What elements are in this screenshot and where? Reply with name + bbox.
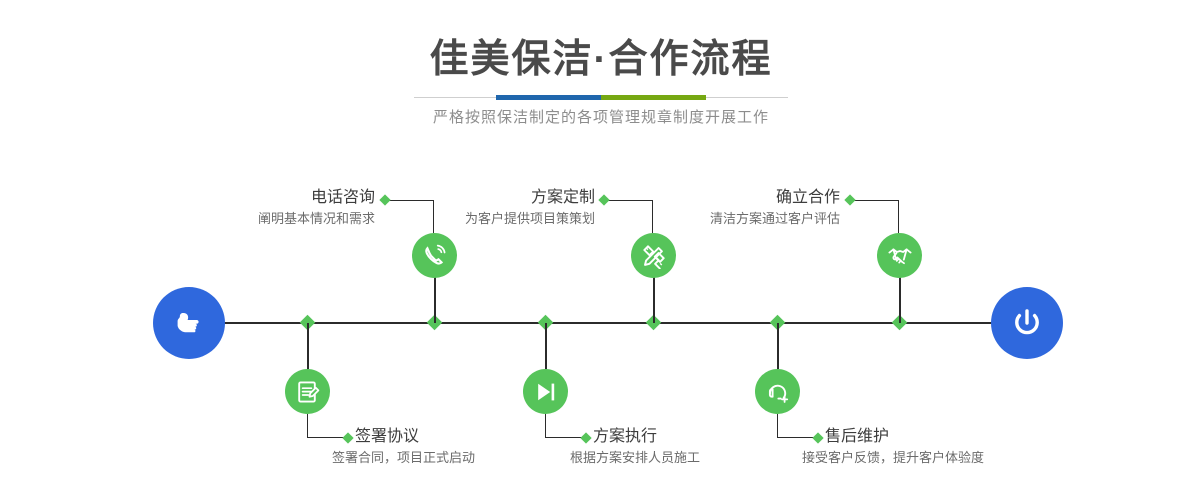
label-step-6: 售后维护 接受客户反馈，提升客户体验度 (825, 426, 1085, 468)
header: 佳美保洁·合作流程 严格按照保洁制定的各项管理规章制度开展工作 (0, 0, 1202, 145)
handshake-icon (887, 243, 913, 269)
bullet-step-5 (844, 194, 855, 205)
page-subtitle: 严格按照保洁制定的各项管理规章制度开展工作 (0, 106, 1202, 127)
bullet-step-3 (598, 194, 609, 205)
play-forward-icon (533, 379, 559, 405)
phone-call-icon (422, 243, 448, 269)
connector-step-1 (434, 277, 436, 323)
label-step-2-desc: 签署合同，项目正式启动 (332, 448, 605, 468)
power-icon (1007, 303, 1047, 343)
pencil-ruler-icon (641, 243, 667, 269)
connector-step-5 (899, 277, 901, 323)
label-step-3-title: 方案定制 (380, 187, 595, 209)
label-step-5: 确立合作 清洁方案通过客户评估 (625, 187, 840, 229)
thumbs-up-icon (170, 304, 208, 342)
start-node[interactable] (153, 287, 225, 359)
title-divider (414, 95, 788, 100)
label-step-1-title: 电话咨询 (160, 187, 375, 209)
node-step-3[interactable] (631, 233, 676, 278)
timeline-stage: 电话咨询 阐明基本情况和需求 方案定制 为客户提供项目策策划 确立合作 清洁方案… (0, 145, 1202, 502)
label-step-1: 电话咨询 阐明基本情况和需求 (160, 187, 375, 229)
node-step-4[interactable] (523, 369, 568, 414)
node-step-6[interactable] (755, 369, 800, 414)
connector-step-4 (545, 323, 547, 369)
label-step-5-desc: 清洁方案通过客户评估 (625, 209, 840, 229)
label-step-3-desc: 为客户提供项目策策划 (380, 209, 595, 229)
divider-segment-blue (496, 95, 601, 100)
process-flow-infographic: 佳美保洁·合作流程 严格按照保洁制定的各项管理规章制度开展工作 (0, 0, 1202, 502)
end-node[interactable] (991, 287, 1063, 359)
node-step-1[interactable] (412, 233, 457, 278)
headset-support-icon (765, 379, 791, 405)
label-step-1-desc: 阐明基本情况和需求 (160, 209, 375, 229)
label-step-6-title: 售后维护 (825, 426, 1085, 448)
connector-step-2 (307, 323, 309, 369)
document-edit-icon (295, 379, 321, 405)
node-step-2[interactable] (285, 369, 330, 414)
label-step-2: 签署协议 签署合同，项目正式启动 (355, 426, 605, 468)
divider-segment-green (601, 95, 706, 100)
page-title: 佳美保洁·合作流程 (0, 36, 1202, 84)
label-step-6-desc: 接受客户反馈，提升客户体验度 (802, 448, 1085, 468)
node-step-5[interactable] (877, 233, 922, 278)
connector-step-6 (777, 323, 779, 369)
label-step-3: 方案定制 为客户提供项目策策划 (380, 187, 595, 229)
label-step-5-title: 确立合作 (625, 187, 840, 209)
bullet-step-2 (342, 432, 353, 443)
connector-step-3 (653, 277, 655, 323)
